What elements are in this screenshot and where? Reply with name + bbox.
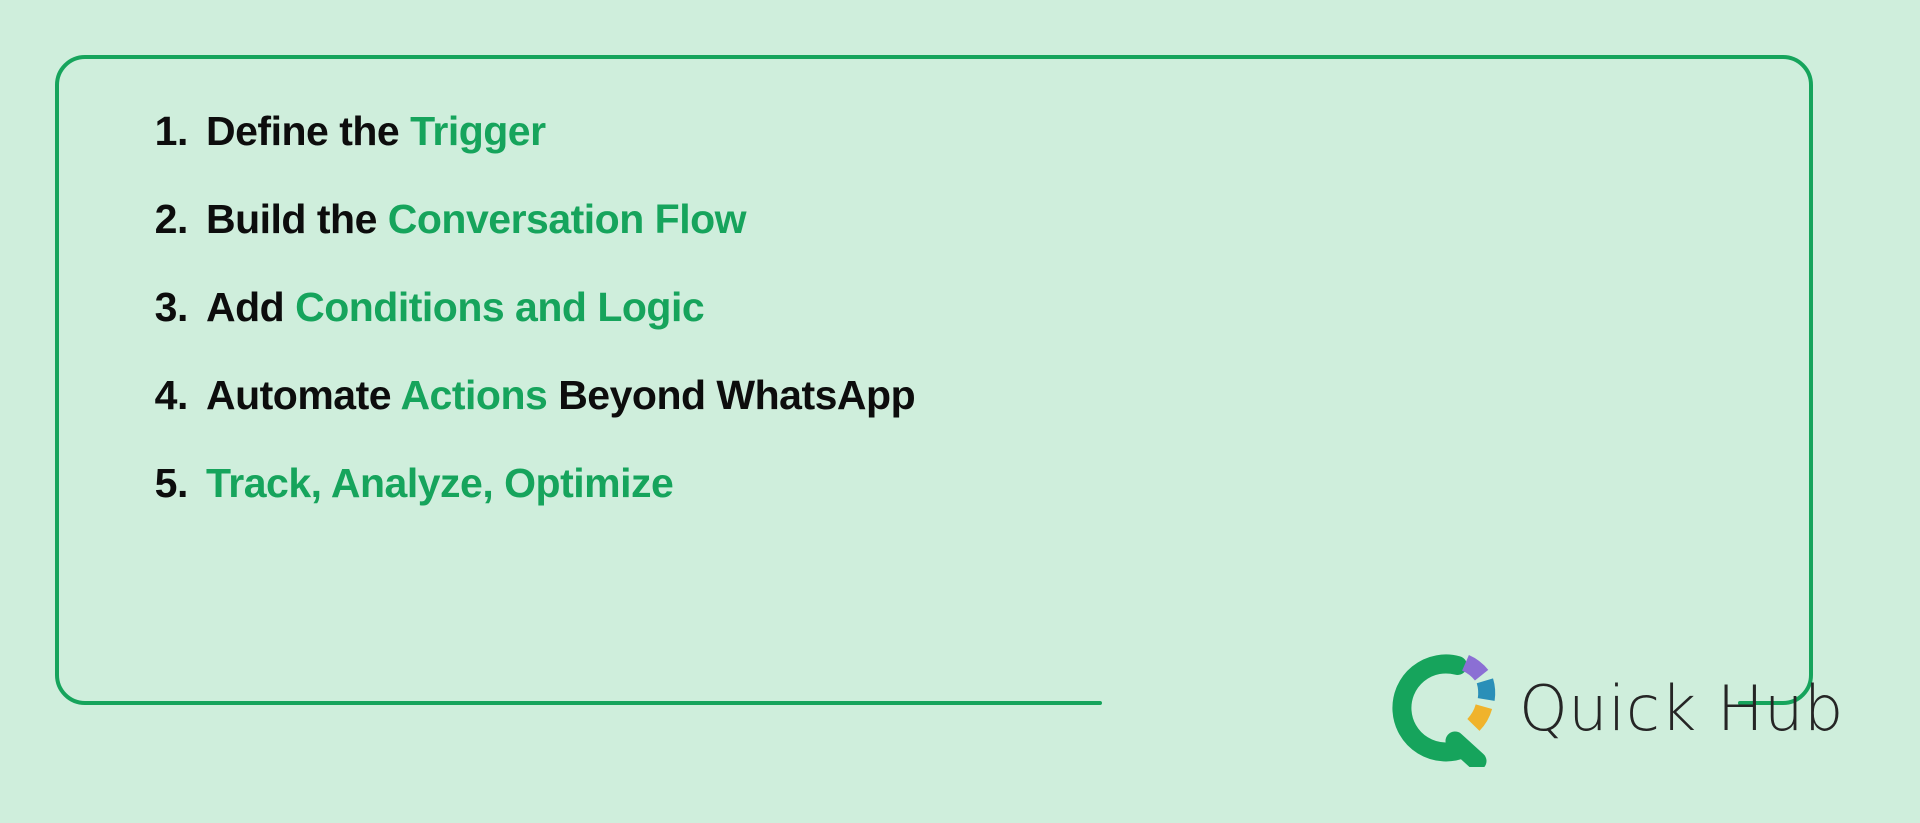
logo-segment-purple xyxy=(1466,663,1482,675)
step-label: Add Conditions and Logic xyxy=(206,284,704,331)
step-item: 1.Define the Trigger xyxy=(130,108,1330,196)
logo-segment-yellow xyxy=(1473,707,1484,725)
step-label-segment: Beyond WhatsApp xyxy=(547,372,915,418)
step-label: Track, Analyze, Optimize xyxy=(206,460,673,507)
step-number: 4. xyxy=(130,372,188,419)
logo-green-arc xyxy=(1402,664,1477,761)
step-item: 5.Track, Analyze, Optimize xyxy=(130,460,1330,548)
step-label: Automate Actions Beyond WhatsApp xyxy=(206,372,915,419)
step-label-segment: Conditions and Logic xyxy=(295,284,704,330)
logo-wordmark: Quick Hub xyxy=(1519,672,1844,745)
step-label-segment: Build the xyxy=(206,196,388,242)
step-label: Define the Trigger xyxy=(206,108,546,155)
step-item: 3.Add Conditions and Logic xyxy=(130,284,1330,372)
logo-segment-blue xyxy=(1485,681,1487,700)
step-number: 3. xyxy=(130,284,188,331)
step-label-segment: Conversation Flow xyxy=(388,196,746,242)
step-label-segment: Add xyxy=(206,284,295,330)
slide-canvas: 1.Define the Trigger2.Build the Conversa… xyxy=(0,0,1920,823)
step-item: 2.Build the Conversation Flow xyxy=(130,196,1330,284)
step-label: Build the Conversation Flow xyxy=(206,196,746,243)
step-label-segment: Define the xyxy=(206,108,410,154)
step-number: 1. xyxy=(130,108,188,155)
step-label-segment: Trigger xyxy=(410,108,545,154)
steps-list: 1.Define the Trigger2.Build the Conversa… xyxy=(130,108,1330,548)
quick-hub-logo: Quick Hub xyxy=(1385,648,1844,768)
step-number: 2. xyxy=(130,196,188,243)
step-label-segment: Track, Analyze, Optimize xyxy=(206,460,673,506)
step-label-segment: Actions xyxy=(400,372,547,418)
step-item: 4.Automate Actions Beyond WhatsApp xyxy=(130,372,1330,460)
step-number: 5. xyxy=(130,460,188,507)
quick-hub-logo-mark xyxy=(1385,649,1503,767)
step-label-segment: Automate xyxy=(206,372,400,418)
